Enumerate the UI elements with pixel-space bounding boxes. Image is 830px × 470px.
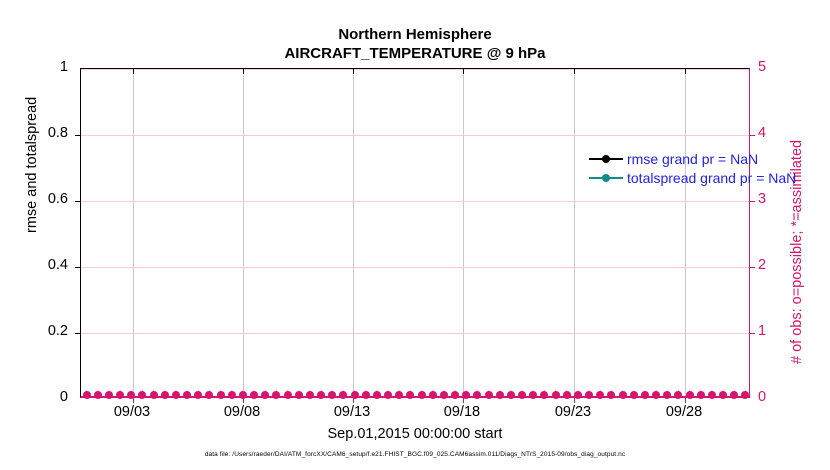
x-axis-tick-label: 09/23 (555, 404, 591, 420)
y-axis-left-tick (75, 333, 81, 334)
y-axis-right-tick (749, 135, 755, 136)
y-axis-left-tick (75, 267, 81, 268)
vertical-gridline (574, 69, 575, 397)
y-axis-left-tick-label: 0.8 (48, 125, 68, 141)
y-axis-right-tick (749, 333, 755, 334)
y-axis-right-tick-label: 3 (758, 191, 766, 207)
y-axis-right-tick-label: 5 (758, 59, 766, 75)
y-axis-left-tick (75, 201, 81, 202)
vertical-gridline (685, 69, 686, 397)
y-axis-left-tick-label: 0.4 (48, 257, 68, 273)
vertical-gridline (353, 69, 354, 397)
title-line-2: AIRCRAFT_TEMPERATURE @ 9 hPa (0, 44, 830, 63)
x-axis-title: Sep.01,2015 00:00:00 start (0, 426, 830, 442)
x-axis-tick-label: 09/28 (666, 404, 702, 420)
vertical-gridline (463, 69, 464, 397)
x-axis-tick-label: 09/03 (114, 404, 150, 420)
y-axis-left-tick-label: 0 (60, 389, 68, 405)
legend-swatch-totalspread (589, 172, 623, 184)
legend-item-totalspread[interactable]: totalspread grand pr = NaN (589, 168, 829, 187)
y-axis-left-tick (75, 135, 81, 136)
y-axis-left-tick-label: 1 (60, 59, 68, 75)
x-axis-tick-top (463, 69, 464, 74)
legend-swatch-rmse (589, 153, 623, 165)
x-axis-tick-top (353, 69, 354, 74)
page-title: Northern Hemisphere AIRCRAFT_TEMPERATURE… (0, 25, 830, 63)
vertical-gridline (133, 69, 134, 397)
x-axis-tick-top (133, 69, 134, 74)
legend-label-rmse: rmse grand pr = NaN (627, 151, 758, 167)
x-axis-tick-top (685, 69, 686, 74)
legend: rmse grand pr = NaN totalspread grand pr… (589, 149, 829, 187)
y-axis-left-tick-label: 0.6 (48, 191, 68, 207)
obs-baseline (81, 396, 749, 398)
plot-area: ****************************************… (80, 68, 750, 398)
x-axis-tick-top (574, 69, 575, 74)
vertical-gridline (243, 69, 244, 397)
horizontal-gridline (81, 135, 749, 136)
title-line-1: Northern Hemisphere (0, 25, 830, 44)
legend-label-totalspread: totalspread grand pr = NaN (627, 170, 796, 186)
y-axis-left-title: rmse and totalspread (24, 213, 40, 233)
y-axis-right-tick (749, 201, 755, 202)
y-axis-right-tick-label: 0 (758, 389, 766, 405)
x-axis-tick-label: 09/13 (334, 404, 370, 420)
y-axis-right-tick-label: 4 (758, 125, 766, 141)
y-axis-right-tick-label: 2 (758, 257, 766, 273)
horizontal-gridline (81, 69, 749, 70)
x-axis-tick-label: 09/18 (444, 404, 480, 420)
horizontal-gridline (81, 333, 749, 334)
legend-item-rmse[interactable]: rmse grand pr = NaN (589, 149, 829, 168)
data-file-footer: data file: /Users/raeder/DAI/ATM_forcXX/… (0, 451, 830, 458)
horizontal-gridline (81, 267, 749, 268)
y-axis-right-tick (749, 267, 755, 268)
x-axis-tick-top (243, 69, 244, 74)
y-axis-left-tick-label: 0.2 (48, 323, 68, 339)
x-axis-tick-label: 09/08 (224, 404, 260, 420)
y-axis-right-tick-label: 1 (758, 323, 766, 339)
horizontal-gridline (81, 201, 749, 202)
